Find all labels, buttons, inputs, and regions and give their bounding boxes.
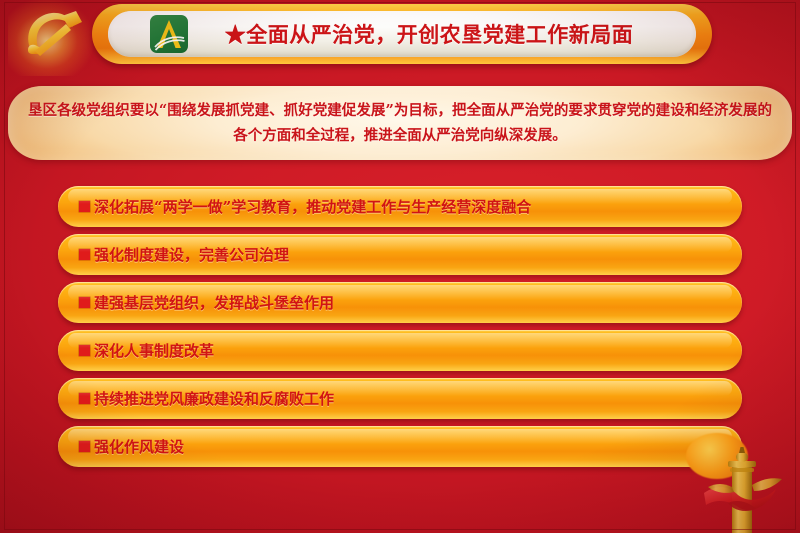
hammer-and-sickle-emblem <box>14 2 86 68</box>
square-bullet-icon <box>79 345 90 356</box>
title-bar: ★全面从严治党，开创农垦党建工作新局面 <box>108 11 696 57</box>
list-item-label: 强化作风建设 <box>94 436 742 457</box>
header-band: ★全面从严治党，开创农垦党建工作新局面 <box>0 0 800 72</box>
list-item-label: 建强基层党组织，发挥战斗堡垒作用 <box>94 292 742 313</box>
list-item[interactable]: 建强基层党组织，发挥战斗堡垒作用 <box>58 282 742 323</box>
goal-statement-panel: 垦区各级党组织要以“围绕发展抓党建、抓好党建促发展”为目标，把全面从严治党的要求… <box>8 86 792 160</box>
goal-statement-text: 垦区各级党组织要以“围绕发展抓党建、抓好党建促发展”为目标，把全面从严治党的要求… <box>28 98 772 148</box>
list-item-label: 强化制度建设，完善公司治理 <box>94 244 742 265</box>
square-bullet-icon <box>79 393 90 404</box>
list-item[interactable]: 持续推进党风廉政建设和反腐败工作 <box>58 378 742 419</box>
list-item-label: 深化拓展“两学一做”学习教育，推动党建工作与生产经营深度融合 <box>94 196 742 217</box>
list-item[interactable]: 深化人事制度改革 <box>58 330 742 371</box>
poster-canvas: ★全面从严治党，开创农垦党建工作新局面 垦区各级党组织要以“围绕发展抓党建、抓好… <box>0 0 800 533</box>
list-item[interactable]: 深化拓展“两学一做”学习教育，推动党建工作与生产经营深度融合 <box>58 186 742 227</box>
golden-pillar-with-red-ribbon <box>698 441 794 533</box>
list-item-label: 深化人事制度改革 <box>94 340 742 361</box>
task-list: 深化拓展“两学一做”学习教育，推动党建工作与生产经营深度融合 强化制度建设，完善… <box>0 186 800 474</box>
list-item-label: 持续推进党风廉政建设和反腐败工作 <box>94 388 742 409</box>
list-item[interactable]: 强化制度建设，完善公司治理 <box>58 234 742 275</box>
page-title: ★全面从严治党，开创农垦党建工作新局面 <box>188 19 696 49</box>
square-bullet-icon <box>79 249 90 260</box>
square-bullet-icon <box>79 297 90 308</box>
agri-reclamation-logo <box>150 15 188 53</box>
square-bullet-icon <box>79 441 90 452</box>
list-item[interactable]: 强化作风建设 <box>58 426 742 467</box>
square-bullet-icon <box>79 201 90 212</box>
